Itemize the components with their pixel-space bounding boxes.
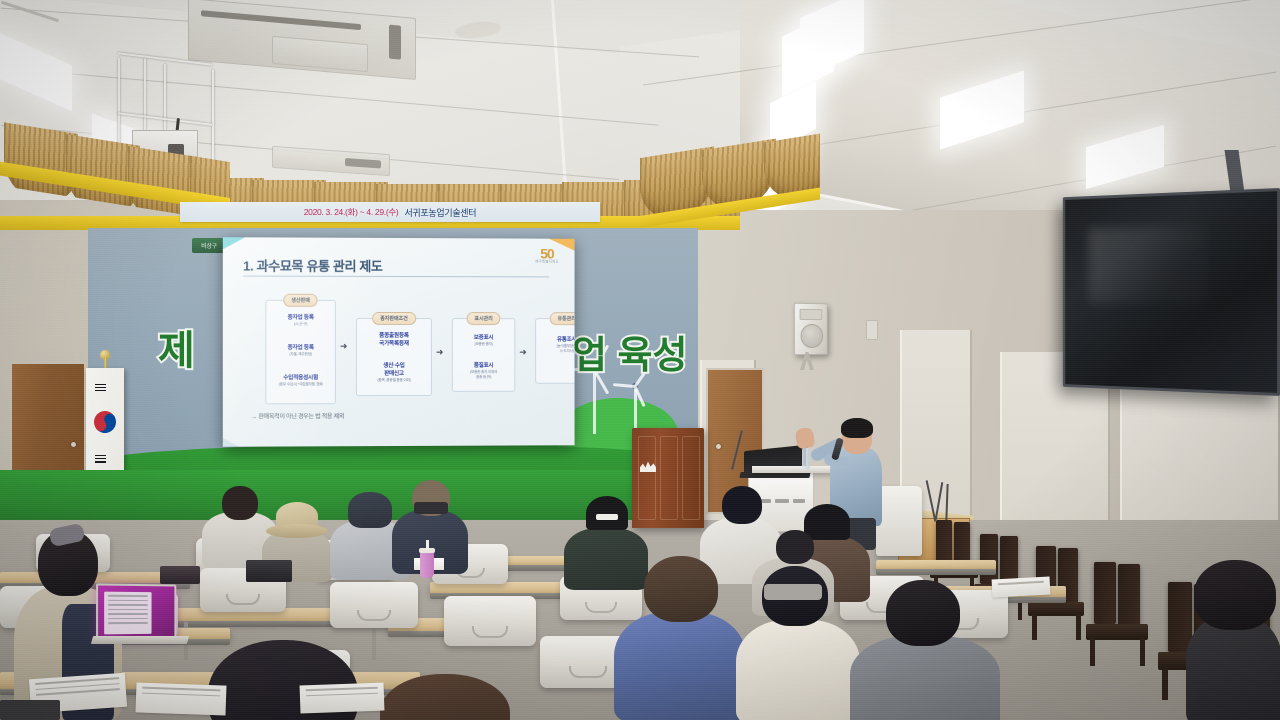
photo-scene: 제 업 육성 비상구 2020. 3. 24.(화) ~ 4. 29.(수) 서… (0, 0, 1280, 720)
wall-sensor (866, 320, 878, 340)
event-banner: 2020. 3. 24.(화) ~ 4. 29.(수) 서귀포농업기술센터 (180, 202, 600, 222)
flow-item: 품종출원등록 국가목록등재 (357, 331, 431, 347)
flow-arrow: ➜ (340, 342, 348, 351)
slide-title: 1. 과수묘목 유통 관리 제도 (243, 255, 382, 275)
flow-item: 생산·수입 판매신고 (품목, 품종별 품종 이외) (357, 361, 431, 383)
flow-item: 종자업 등록 (자율, 제주한정) (266, 343, 335, 357)
desk (876, 560, 996, 570)
handout-paper (300, 683, 385, 714)
flow-arrow: ➜ (519, 348, 526, 357)
drink-cup (420, 552, 434, 578)
attendee-blue-hoodie (614, 556, 746, 720)
attendee-front-right (380, 674, 520, 720)
attendee-laptop-screen[interactable] (96, 583, 176, 640)
attendee-cream-knit (736, 566, 860, 720)
door-knob-icon (716, 444, 721, 449)
flow-box-header: 생산판매 (283, 294, 318, 307)
bag-on-desk (246, 560, 292, 582)
presentation-slide: 1. 과수묘목 유통 관리 제도 50 제주특별자치도 생산판매 종자업 등록 … (223, 237, 575, 447)
slide-corner-decor (223, 237, 245, 249)
chair[interactable] (330, 582, 418, 628)
flow-box: 표시관리 보증표시 (보증한 종자) 품질표시 (보증한 종자 이외의 품종 등… (452, 318, 515, 392)
flow-item: 유통조사 (농식품부장관, 시·도지사) (536, 335, 574, 354)
logo-number: 50 (535, 247, 559, 261)
presenter-hair (841, 418, 873, 438)
mural-text-right: 업 육성 (572, 324, 687, 379)
attendee-grey-hoodie (850, 580, 1000, 720)
hat-logo (596, 514, 618, 520)
flow-item: 품질표시 (보증한 종자 이외의 품종 등 外) (453, 361, 515, 380)
flow-item: 종자업 등록 (시·군·구) (266, 313, 335, 327)
korean-flag (86, 368, 124, 486)
bag-on-desk (160, 566, 200, 584)
flow-item: 보증표시 (보증한 종자) (453, 333, 515, 347)
water-bottle (802, 448, 810, 470)
flow-box: 생산판매 종자업 등록 (시·군·구) 종자업 등록 (자율, 제주한정) 수입… (265, 300, 336, 405)
attendee-right-edge (1186, 560, 1280, 720)
banner-venue-text: 서귀포농업기술센터 (404, 206, 476, 219)
flow-box: 종자판매조건 품종출원등록 국가목록등재 생산·수입 판매신고 (품목, 품종별… (356, 318, 432, 396)
hair-clip (764, 584, 822, 600)
slide-title-rule (243, 276, 549, 278)
attendee-laptop-keyboard[interactable] (91, 636, 189, 644)
speaker-tweeter (800, 309, 823, 320)
speaker-woofer (801, 324, 824, 348)
wind-turbine-icon (618, 378, 652, 434)
flow-box-header: 종자판매조건 (372, 312, 416, 325)
flow-box-header: 유통관리 (550, 312, 575, 325)
flow-arrow: ➜ (436, 348, 444, 357)
pa-speaker (794, 303, 828, 356)
logo-subtitle: 제주특별자치도 (535, 260, 559, 264)
handout-paper (992, 576, 1051, 597)
trigram-geon (95, 382, 106, 393)
side-chair[interactable] (1086, 562, 1150, 666)
face-mask (414, 502, 448, 514)
wall-tv[interactable] (1063, 188, 1280, 396)
banner-date-text: 2020. 3. 24.(화) ~ 4. 29.(수) (304, 206, 399, 218)
slide-corner-decor (223, 438, 239, 447)
chair[interactable] (444, 596, 536, 646)
laptop-document (104, 592, 151, 635)
flow-box: 유통관리 유통조사 (농식품부장관, 시·도지사) (535, 318, 574, 384)
slide-flow-diagram: 생산판매 종자업 등록 (시·군·구) 종자업 등록 (자율, 제주한정) 수입… (239, 290, 563, 409)
exit-sign: 비상구 (192, 238, 226, 253)
tv-screen-reflection (1089, 225, 1210, 303)
handout-paper (136, 682, 227, 715)
flow-item: 수입적응성시험 (종묘 수입시) *국립종자원, 협회 (266, 373, 335, 387)
mural-text-left: 제 (158, 318, 195, 376)
slide-footnote: → 판매목적이 아닌 경우는 법 적용 제외 (251, 411, 344, 420)
flow-box-header: 표시관리 (467, 312, 501, 325)
bag-on-desk (0, 700, 60, 720)
anniversary-logo: 50 제주특별자치도 (535, 247, 559, 264)
taeguk-symbol (90, 407, 121, 438)
trigram-gon (95, 453, 106, 464)
projection-screen: 1. 과수묘목 유통 관리 제도 50 제주특별자치도 생산판매 종자업 등록 … (223, 237, 575, 447)
door-knob-icon (71, 442, 76, 447)
